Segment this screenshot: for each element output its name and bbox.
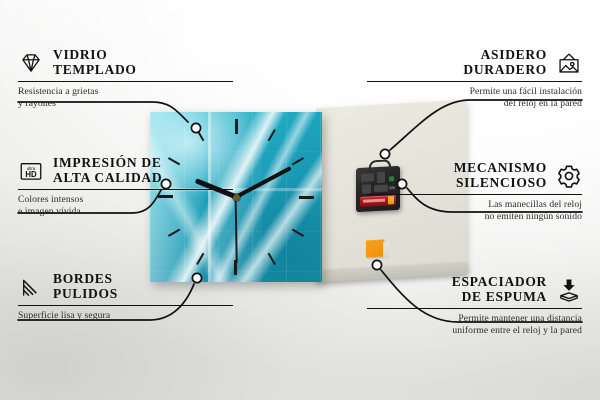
feature-espaciador-de-espuma: ESPACIADOR DE ESPUMA Permite mantener un…	[367, 275, 582, 337]
feature-subtitle: y rayones	[18, 98, 233, 110]
feature-divider	[367, 194, 582, 195]
ultra-hd-icon: ultra HD	[18, 158, 44, 184]
feature-title: IMPRESIÓN DE	[53, 156, 162, 171]
feature-title: DE ESPUMA	[452, 290, 547, 305]
feature-subtitle: Colores intensos	[18, 194, 233, 206]
feature-title: VIDRIO	[53, 48, 137, 63]
diamond-icon	[18, 50, 44, 76]
feature-subtitle: Superficie lisa y segura	[18, 310, 233, 322]
feature-title: DURADERO	[463, 63, 547, 78]
ultra-hd-icon-main-label: HD	[25, 170, 37, 179]
foam-spacer-pad	[366, 240, 384, 258]
feature-bordes-pulidos: BORDES PULIDOS Superficie lisa y segura	[18, 272, 233, 322]
feature-vidrio-templado: VIDRIO TEMPLADO Resistencia a grietas y …	[18, 48, 233, 110]
feature-divider	[18, 305, 233, 306]
feature-divider	[18, 81, 233, 82]
feature-divider	[18, 189, 233, 190]
feature-title: ASIDERO	[463, 48, 547, 63]
feature-subtitle: Resistencia a grietas	[18, 86, 233, 98]
feature-title: BORDES	[53, 272, 118, 287]
clock-tick	[236, 196, 314, 198]
feature-subtitle: e imagen vívida	[18, 206, 233, 218]
feature-asidero-duradero: ASIDERO DURADERO Permite una fácil insta…	[367, 48, 582, 110]
feature-subtitle: Las manecillas del reloj	[367, 199, 582, 211]
foam-spacer-icon	[556, 277, 582, 303]
feature-subtitle: del reloj en la pared	[367, 98, 582, 110]
feature-mecanismo-silencioso: MECANISMO SILENCIOSO Las manecillas del …	[367, 161, 582, 223]
clock-center-cap	[233, 194, 240, 201]
feature-title: ESPACIADOR	[452, 275, 547, 290]
gear-icon	[556, 163, 582, 189]
polished-edges-icon	[18, 274, 44, 300]
feature-divider	[367, 81, 582, 82]
feature-impresion-alta-calidad: ultra HD IMPRESIÓN DE ALTA CALIDAD Color…	[18, 156, 233, 218]
feature-subtitle: Permite mantener una distancia	[367, 313, 582, 325]
clock-tick	[235, 119, 237, 197]
feature-subtitle: uniforme entre el reloj y la pared	[367, 325, 582, 337]
wall-hanger-icon	[556, 50, 582, 76]
feature-title: SILENCIOSO	[454, 176, 547, 191]
foam-spacer-pad-side	[383, 242, 389, 259]
infographic-canvas: VIDRIO TEMPLADO Resistencia a grietas y …	[0, 0, 600, 400]
feature-title: TEMPLADO	[53, 63, 137, 78]
feature-divider	[367, 308, 582, 309]
feature-title: ALTA CALIDAD	[53, 171, 162, 186]
feature-title: PULIDOS	[53, 287, 118, 302]
feature-title: MECANISMO	[454, 161, 547, 176]
feature-subtitle: no emiten ningún sonido	[367, 211, 582, 223]
feature-subtitle: Permite una fácil instalación	[367, 86, 582, 98]
